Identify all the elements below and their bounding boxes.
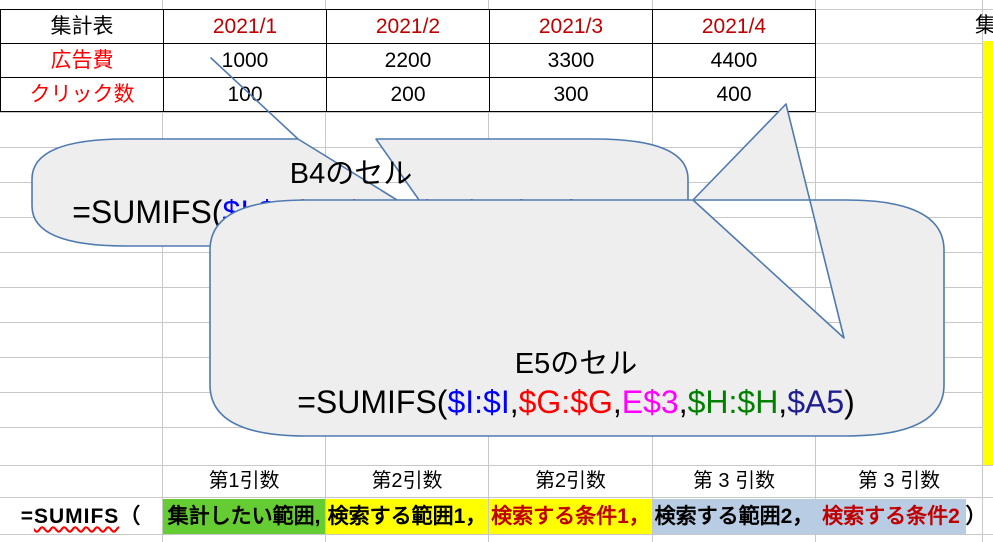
legend-arg-header-5: 第 3 引数 <box>816 466 982 497</box>
legend-arg-header-3: 第2引数 <box>489 466 652 497</box>
legend-function-prefix: =SUMIFS（ <box>0 499 162 534</box>
legend-arg-header-2: 第2引数 <box>326 466 488 497</box>
header-month-4: 2021/4 <box>653 10 816 44</box>
formula-sep1: , <box>510 384 519 420</box>
spreadsheet-canvas: 集計表 2021/1 2021/2 2021/3 2021/4 広告費 1000… <box>0 0 993 542</box>
legend-arg-4-criteria-range-2: 検索する範囲2， <box>653 499 815 534</box>
legend-arg-5-criteria-2: 検索する条件2 <box>816 499 966 534</box>
right-edge-title-glyph: 集 <box>975 11 993 41</box>
header-month-2: 2021/2 <box>327 10 490 44</box>
right-highlight-strip <box>983 41 993 465</box>
legend-close-paren: ） <box>962 499 990 534</box>
legend-function-name: SUMIFS <box>34 505 119 528</box>
formula-sep4: , <box>778 384 787 420</box>
legend-arg-1-sum-range: 集計したい範囲, <box>163 499 325 534</box>
formula-prefix: =SUMIFS( <box>297 384 447 420</box>
formula-suffix: ) <box>844 384 855 420</box>
formula-arg5: $A5 <box>787 384 844 420</box>
header-month-1: 2021/1 <box>164 10 327 44</box>
callout-e5: E5のセル =SUMIFS($I:$I,$G:$G,E$3,$H:$H,$A5) <box>196 100 956 445</box>
formula-arg3: E$3 <box>622 384 679 420</box>
legend-arg-2-criteria-range-1: 検索する範囲1， <box>326 499 488 534</box>
table-header-row: 集計表 2021/1 2021/2 2021/3 2021/4 <box>1 10 816 44</box>
callout-e5-title: E5のセル <box>196 340 956 382</box>
formula-arg2: $G:$G <box>519 384 613 420</box>
legend-open-paren: （ <box>119 505 141 528</box>
formula-arg1: $I:$I <box>447 384 509 420</box>
callout-e5-formula: =SUMIFS($I:$I,$G:$G,E$3,$H:$H,$A5) <box>196 384 956 421</box>
legend-equals: = <box>21 505 34 528</box>
formula-sep3: , <box>679 384 688 420</box>
table-title-cell: 集計表 <box>1 10 164 44</box>
formula-arg4: $H:$H <box>688 384 779 420</box>
formula-sep2: , <box>613 384 622 420</box>
legend-arg-header-1: 第1引数 <box>163 466 325 497</box>
legend-arg-header-4: 第 3 引数 <box>653 466 815 497</box>
header-month-3: 2021/3 <box>490 10 653 44</box>
legend-arg-3-criteria-1: 検索する条件1， <box>489 499 652 534</box>
